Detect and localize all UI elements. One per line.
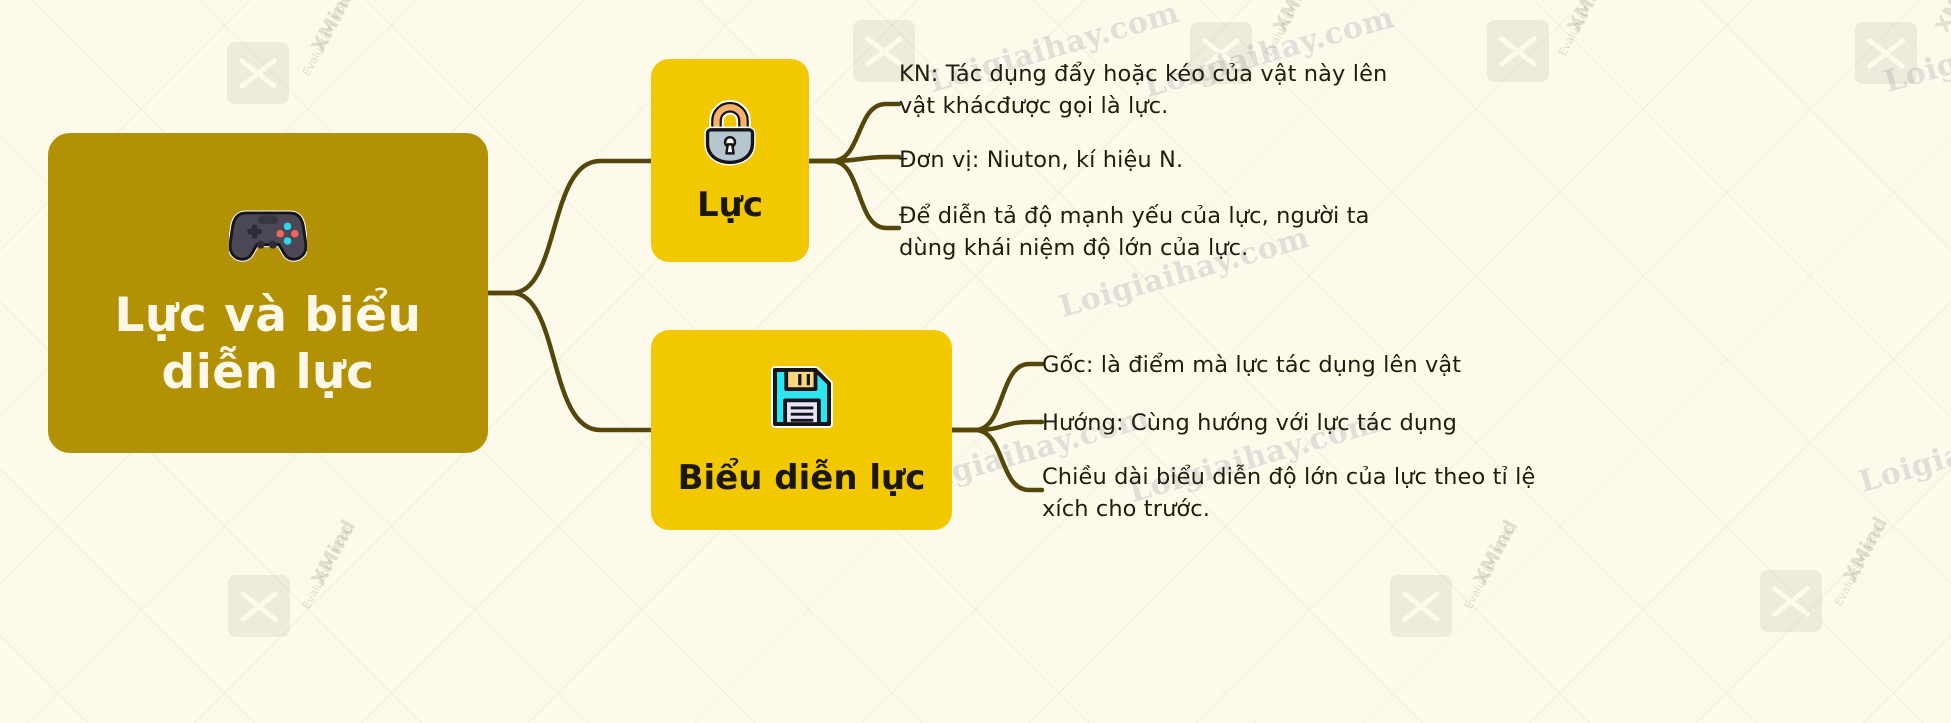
wire-luc-leaf-2 bbox=[809, 161, 899, 228]
xmind-logo-icon bbox=[228, 575, 290, 637]
xmind-watermark-note: Evaluation Mode bbox=[1462, 524, 1516, 611]
leaf-bdl-1[interactable]: Hướng: Cùng hướng với lực tác dụng bbox=[1042, 408, 1702, 440]
topic-node-luc[interactable]: Lực bbox=[651, 59, 809, 262]
xmind-logo-icon bbox=[1855, 22, 1917, 84]
leaf-bdl-2[interactable]: Chiều dài biểu diễn độ lớn của lực theo … bbox=[1042, 462, 1732, 526]
xmind-watermark-note: Evaluation Mode bbox=[1556, 0, 1610, 58]
wire-bdl-leaf-2 bbox=[952, 430, 1042, 490]
xmind-watermark-word: XMind bbox=[1562, 0, 1616, 36]
game-controller-icon bbox=[229, 191, 307, 269]
topic-label-bieu-dien-luc: Biểu diễn lực bbox=[678, 459, 926, 498]
xmind-watermark-note: Evaluation Mode bbox=[1832, 521, 1886, 608]
xmind-watermark-word: XMind bbox=[1268, 0, 1322, 36]
xmind-watermark-word: XMind bbox=[306, 516, 360, 590]
wire-bdl-leaf-1 bbox=[952, 422, 1042, 430]
leaf-luc-1[interactable]: Đơn vị: Niuton, kí hiệu N. bbox=[899, 145, 1529, 177]
wire-luc-leaf-0 bbox=[809, 104, 899, 161]
xmind-watermark-note: Evaluation Mode bbox=[1262, 0, 1316, 58]
wire-bdl-leaf-0 bbox=[952, 364, 1042, 430]
xmind-watermark-word: XMind bbox=[1930, 0, 1951, 36]
xmind-logo-icon bbox=[227, 42, 289, 104]
xmind-logo-icon bbox=[1760, 570, 1822, 632]
xmind-logo-icon bbox=[1390, 575, 1452, 637]
xmind-watermark-note: Evaluation Mode bbox=[300, 0, 354, 78]
topic-node-bieu-dien-luc[interactable]: Biểu diễn lực bbox=[651, 330, 952, 530]
xmind-watermark-word: XMind bbox=[1468, 516, 1522, 590]
mindmap-canvas: Loigiaihay.com Loigiaihay.com Loigiaihay… bbox=[0, 0, 1951, 723]
wire-root-to-bdl bbox=[488, 293, 651, 430]
xmind-watermark-word: XMind bbox=[306, 0, 360, 56]
lock-icon bbox=[694, 96, 766, 168]
wire-root-to-luc bbox=[488, 161, 651, 293]
leaf-luc-2[interactable]: Để diễn tả độ mạnh yếu của lực, người ta… bbox=[899, 201, 1549, 265]
xmind-watermark-word: XMind bbox=[1838, 513, 1892, 587]
watermark-loigiaihay: Loigiaihay.com bbox=[1855, 395, 1951, 500]
leaf-bdl-0[interactable]: Gốc: là điểm mà lực tác dụng lên vật bbox=[1042, 350, 1702, 382]
xmind-watermark-note: Evaluation Mode bbox=[300, 524, 354, 611]
wire-luc-leaf-1 bbox=[809, 157, 899, 161]
root-node-title: Lực và biểu diễn lực bbox=[115, 287, 422, 402]
leaf-luc-0[interactable]: KN: Tác dụng đẩy hoặc kéo của vật này lê… bbox=[899, 59, 1529, 123]
watermark-loigiaihay: Loigiaihay.com bbox=[1880, 0, 1951, 100]
root-node[interactable]: Lực và biểu diễn lực bbox=[48, 133, 488, 453]
floppy-disk-icon bbox=[766, 361, 838, 433]
topic-label-luc: Lực bbox=[697, 186, 763, 225]
